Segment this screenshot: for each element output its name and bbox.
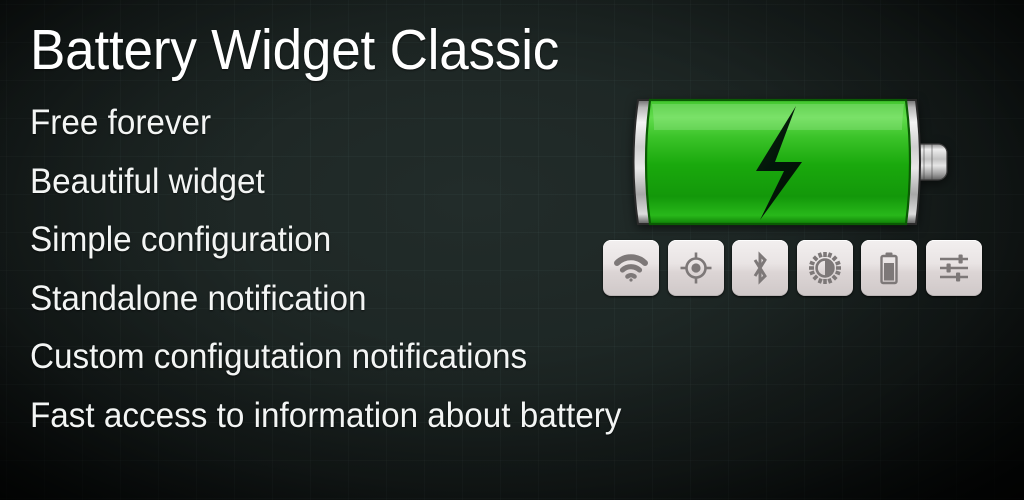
list-item: Standalone notification xyxy=(30,270,621,329)
toggle-tile-wifi[interactable] xyxy=(603,240,659,296)
list-item: Custom configutation notifications xyxy=(30,328,621,387)
list-item: Simple configuration xyxy=(30,211,621,270)
toggle-tile-battery[interactable] xyxy=(861,240,917,296)
wifi-icon xyxy=(614,254,648,282)
feature-list: Free forever Beautiful widget Simple con… xyxy=(30,94,653,445)
list-item: Beautiful widget xyxy=(30,153,621,212)
bluetooth-icon xyxy=(749,251,771,285)
toggle-tile-gps[interactable] xyxy=(668,240,724,296)
quick-toggle-row[interactable] xyxy=(603,240,982,296)
promo-banner: Battery Widget Classic Free forever Beau… xyxy=(0,0,1024,500)
toggle-tile-bluetooth[interactable] xyxy=(732,240,788,296)
gps-icon xyxy=(679,251,713,285)
list-item: Free forever xyxy=(30,94,621,153)
brightness-icon xyxy=(808,251,842,285)
page-title: Battery Widget Classic xyxy=(30,0,609,79)
list-item: Fast access to information about battery xyxy=(30,387,621,446)
toggle-tile-brightness[interactable] xyxy=(797,240,853,296)
text-column: Battery Widget Classic Free forever Beau… xyxy=(30,0,653,445)
battery-level-icon xyxy=(878,251,900,285)
settings-sliders-icon xyxy=(938,253,970,283)
toggle-tile-settings[interactable] xyxy=(926,240,982,296)
battery-icon xyxy=(618,92,948,232)
